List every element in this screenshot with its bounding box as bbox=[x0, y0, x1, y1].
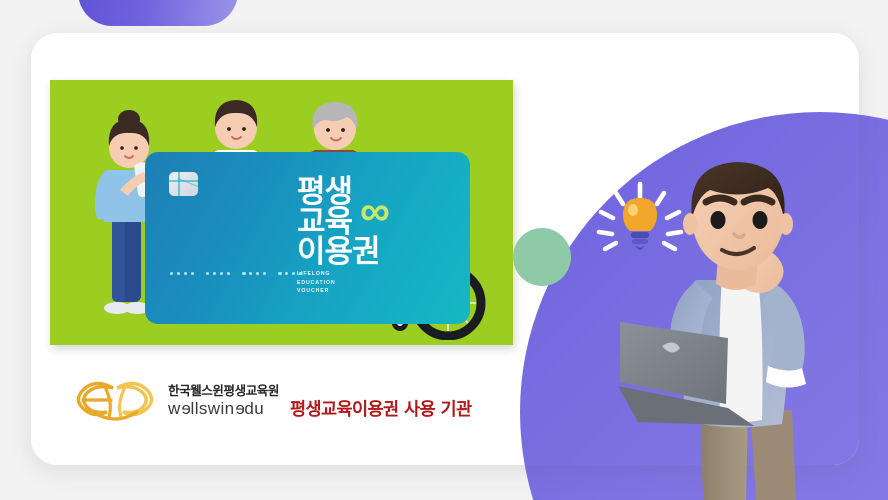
eyebrow-left bbox=[706, 198, 734, 202]
page-headline: 평생교육이용권 사용 기관 bbox=[290, 396, 472, 421]
purple-top-shape bbox=[78, 0, 238, 26]
voucher-title-line-3: 이용권 bbox=[297, 238, 417, 268]
logo-english-name: wellswinedu bbox=[168, 400, 279, 417]
wellswin-logo-mark bbox=[75, 378, 155, 424]
voucher-subtitle-line-2: EDUCATION bbox=[297, 279, 336, 288]
eye-right bbox=[753, 211, 768, 229]
banner-image: 평생 교육 이용권 ∞ LIFELONG EDUCATION VOUCHER bbox=[50, 80, 513, 345]
screenshot-stage: 평생 교육 이용권 ∞ LIFELONG EDUCATION VOUCHER bbox=[0, 0, 888, 500]
mint-circle bbox=[513, 228, 571, 286]
voucher-subtitle-line-3: VOUCHER bbox=[297, 287, 336, 296]
voucher-subtitle-line-1: LIFELONG bbox=[297, 270, 336, 279]
voucher-card-title: 평생 교육 이용권 bbox=[297, 178, 417, 267]
voucher-card-subtitle: LIFELONG EDUCATION VOUCHER bbox=[297, 270, 336, 296]
card-number-masked bbox=[170, 272, 302, 275]
ear-left bbox=[683, 213, 697, 235]
infinity-icon: ∞ bbox=[360, 190, 390, 232]
logo-korean-name: 한국웰스윈평생교육원 bbox=[168, 385, 279, 398]
emv-chip-icon bbox=[169, 172, 198, 196]
organization-logo: 한국웰스윈평생교육원 wellswinedu bbox=[75, 378, 279, 424]
eye-left bbox=[711, 211, 726, 229]
logo-text-block: 한국웰스윈평생교육원 wellswinedu bbox=[168, 385, 279, 418]
3d-man-with-laptop bbox=[610, 160, 870, 500]
voucher-card: 평생 교육 이용권 ∞ LIFELONG EDUCATION VOUCHER bbox=[145, 152, 470, 324]
ear-right bbox=[779, 213, 793, 235]
eyebrow-right bbox=[744, 198, 772, 202]
